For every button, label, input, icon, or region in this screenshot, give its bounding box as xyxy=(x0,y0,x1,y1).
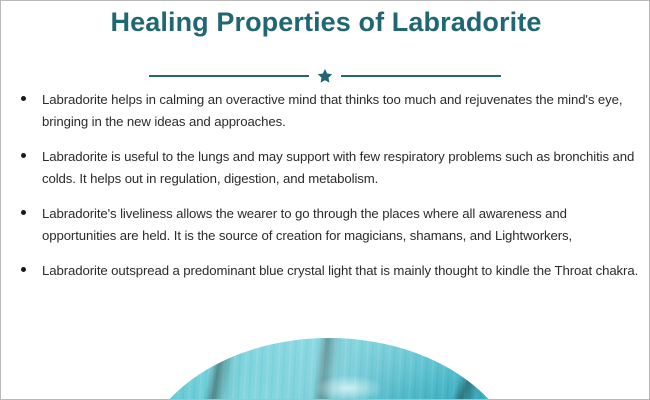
bullet-dot-icon xyxy=(21,267,26,272)
list-item-text: Labradorite is useful to the lungs and m… xyxy=(42,146,639,189)
divider-rule-left xyxy=(149,75,309,77)
bullet-dot-icon xyxy=(21,210,26,215)
labradorite-stone-photo xyxy=(136,338,522,400)
page-title: Healing Properties of Labradorite xyxy=(1,7,650,37)
divider-rule-right xyxy=(341,75,501,77)
bullet-list: Labradorite helps in calming an overacti… xyxy=(15,89,639,282)
page-title-text: Healing Properties of Labradorite xyxy=(1,7,650,37)
title-divider xyxy=(149,67,501,85)
slide-canvas: Healing Properties of Labradorite Labrad… xyxy=(0,0,650,400)
star-icon xyxy=(316,67,334,85)
labradorite-stone-shading xyxy=(136,338,522,400)
list-item: Labradorite's liveliness allows the wear… xyxy=(15,203,639,246)
list-item: Labradorite is useful to the lungs and m… xyxy=(15,146,639,189)
list-item-text: Labradorite's liveliness allows the wear… xyxy=(42,203,639,246)
bullet-dot-icon xyxy=(21,96,26,101)
list-item: Labradorite outspread a predominant blue… xyxy=(15,260,639,282)
bullet-dot-icon xyxy=(21,153,26,158)
list-item-text: Labradorite outspread a predominant blue… xyxy=(42,260,639,282)
list-item: Labradorite helps in calming an overacti… xyxy=(15,89,639,132)
list-item-text: Labradorite helps in calming an overacti… xyxy=(42,89,639,132)
